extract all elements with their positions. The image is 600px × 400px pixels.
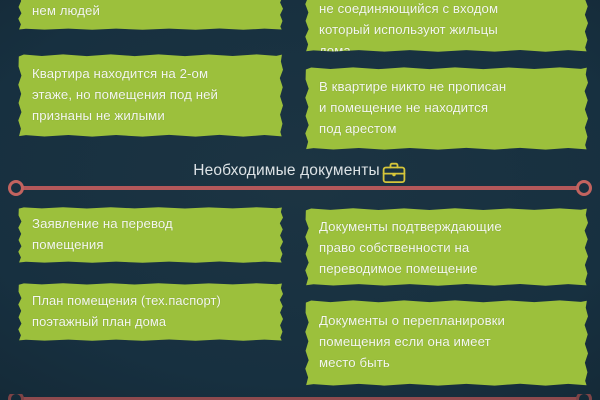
card-second-floor: Квартира находится на 2-ом этаже, но пом…: [18, 54, 283, 137]
card-line: переводимое помещение: [319, 258, 574, 279]
divider-node-right: [576, 394, 592, 400]
card-line: этаже, но помещения под ней: [32, 84, 269, 105]
card-doc-plan: План помещения (тех.паспорт) поэтажный п…: [18, 283, 283, 341]
card-line: помещения: [32, 234, 269, 255]
divider-rule: [22, 186, 578, 190]
card-line: и помещение не находится: [319, 97, 574, 118]
card-line: Квартира находится на 2-ом: [32, 63, 269, 84]
card-separate-entrance: не соединяющийся с входом который исполь…: [305, 0, 588, 52]
card-no-registration: В квартире никто не прописан и помещение…: [305, 67, 588, 150]
card-line: место быть: [319, 352, 574, 373]
card-line: Документы подтверждающие: [319, 216, 574, 237]
card-line: признаны не жилыми: [32, 105, 269, 126]
card-line: под арестом: [319, 118, 574, 139]
divider-node-left: [8, 180, 24, 196]
card-doc-redevelopment: Документы о перепланировки помещения есл…: [305, 300, 588, 386]
card-line: который используют жильцы: [319, 19, 574, 40]
card-line: помещения если она имеет: [319, 331, 574, 352]
section-heading-label: Необходимые документы: [193, 162, 380, 180]
divider-node-right: [576, 180, 592, 196]
card-doc-application: Заявление на перевод помещения: [18, 207, 283, 263]
infographic-canvas: нем людей не соединяющийся с входом кото…: [0, 0, 600, 400]
card-line: План помещения (тех.паспорт): [32, 290, 269, 311]
documents-section-heading: Необходимые документы: [0, 161, 600, 180]
card-line: дома: [319, 40, 574, 61]
card-line: не соединяющийся с входом: [319, 0, 574, 19]
card-line: Документы о перепланировки: [319, 310, 574, 331]
card-line: В квартире никто не прописан: [319, 76, 574, 97]
card-doc-ownership: Документы подтверждающие право собственн…: [305, 208, 588, 286]
divider-node-left: [8, 394, 24, 400]
card-line: поэтажный план дома: [32, 311, 269, 332]
card-line: Заявление на перевод: [32, 213, 269, 234]
card-line: нем людей: [32, 0, 269, 21]
card-line: право собственности на: [319, 237, 574, 258]
next-section-divider-clipped: [0, 394, 600, 400]
card-people-count: нем людей: [18, 0, 283, 30]
section-divider: [0, 180, 600, 196]
